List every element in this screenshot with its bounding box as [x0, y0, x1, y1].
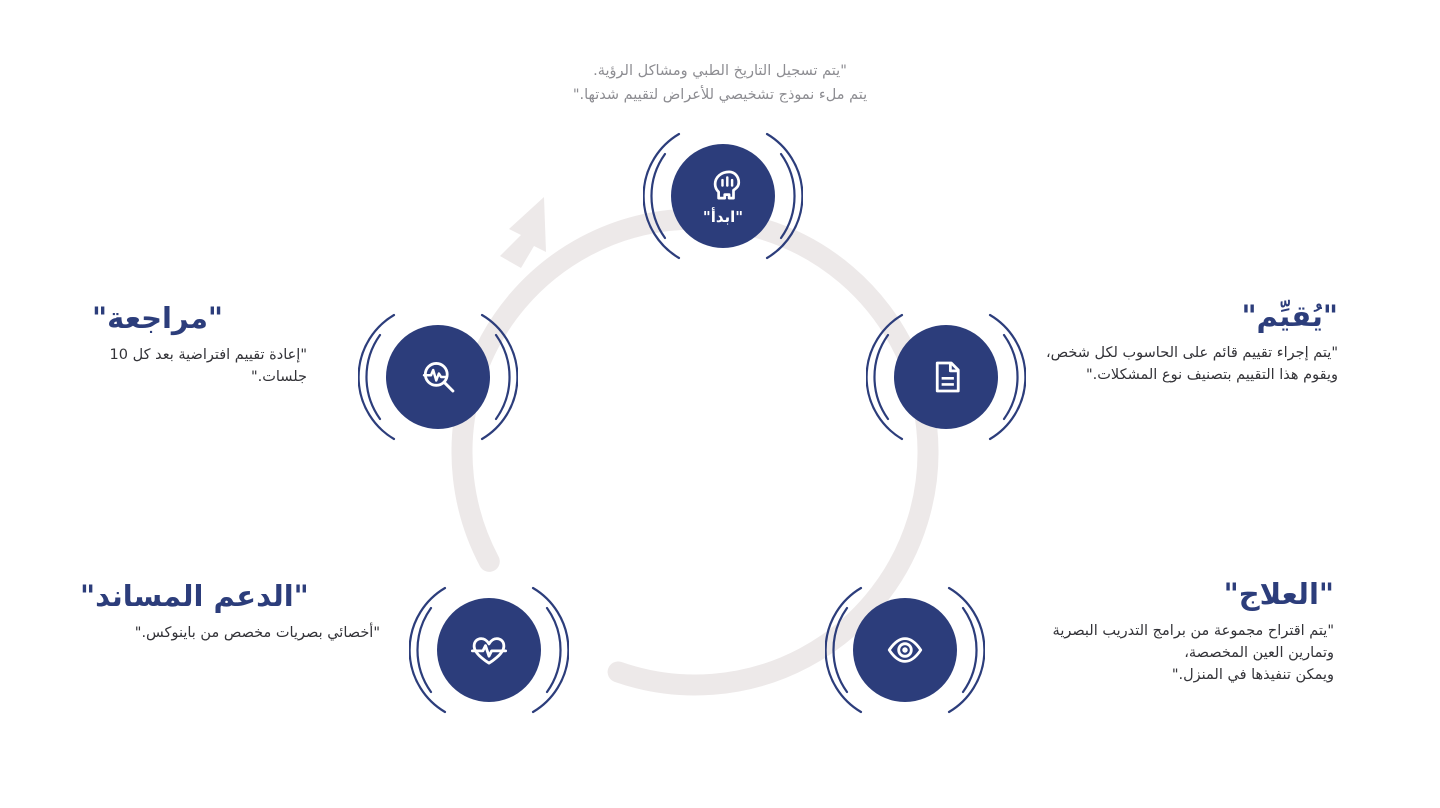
block-evaluate-body: "يتم إجراء تقييم قائم على الحاسوب لكل شخ…: [1038, 343, 1338, 387]
block-treatment: "العلاج" "يتم اقتراح مجموعة من برامج الت…: [1034, 578, 1334, 687]
node-evaluate[interactable]: [866, 297, 1026, 457]
node-support-disc: [437, 598, 541, 702]
eye-icon: [884, 629, 926, 671]
head-brain-icon: [702, 164, 744, 206]
block-treatment-title: "العلاج": [1034, 578, 1334, 611]
block-support-body: "أخصائي بصريات مخصص من باينوكس.": [80, 623, 380, 645]
diagram-canvas: "يتم تسجيل التاريخ الطبي ومشاكل الرؤية. …: [0, 0, 1440, 808]
block-review-title: "مراجعة": [92, 302, 307, 335]
node-treatment[interactable]: [825, 570, 985, 730]
block-review: "مراجعة" "إعادة تقييم افتراضية بعد كل 10…: [92, 302, 307, 389]
flow-arrowhead: [500, 197, 546, 268]
magnifier-pulse-icon: [417, 356, 459, 398]
block-support: "الدعم المساند" "أخصائي بصريات مخصص من ب…: [80, 580, 380, 645]
document-icon: [925, 356, 967, 398]
node-start-label: "ابدأ": [703, 210, 743, 225]
node-evaluate-disc: [894, 325, 998, 429]
block-review-body: "إعادة تقييم افتراضية بعد كل 10 جلسات.": [92, 345, 307, 389]
node-review-disc: [386, 325, 490, 429]
node-review[interactable]: [358, 297, 518, 457]
block-evaluate-title: "يُقيِّم": [1038, 300, 1338, 333]
node-start[interactable]: "ابدأ": [643, 116, 803, 276]
block-evaluate: "يُقيِّم" "يتم إجراء تقييم قائم على الحا…: [1038, 300, 1338, 387]
node-treatment-disc: [853, 598, 957, 702]
node-start-disc: "ابدأ": [671, 144, 775, 248]
block-treatment-body: "يتم اقتراح مجموعة من برامج التدريب البص…: [1034, 621, 1334, 686]
heart-pulse-icon: [468, 629, 510, 671]
block-support-title: "الدعم المساند": [80, 580, 380, 613]
top-caption: "يتم تسجيل التاريخ الطبي ومشاكل الرؤية. …: [460, 60, 980, 108]
node-support[interactable]: [409, 570, 569, 730]
